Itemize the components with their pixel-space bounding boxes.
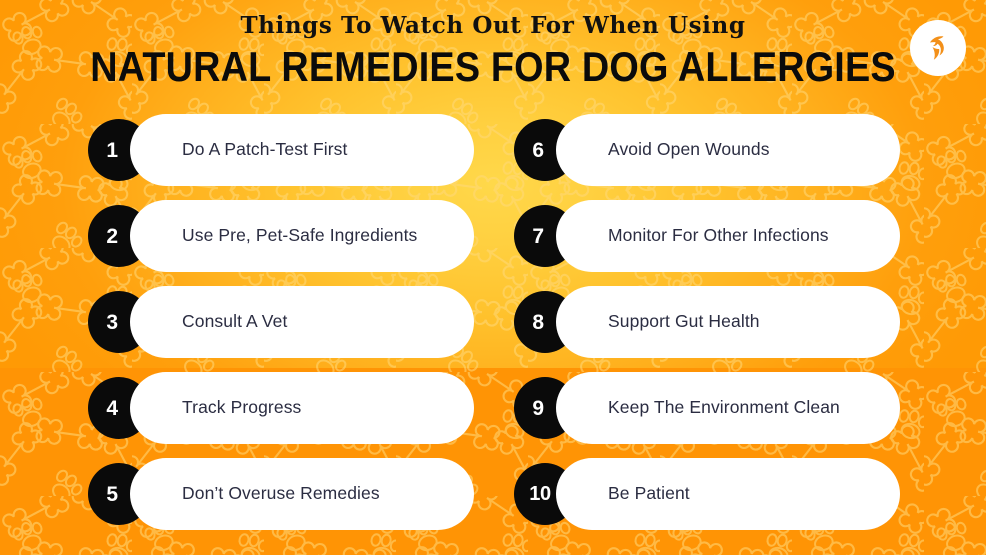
- item-number: 2: [106, 226, 117, 247]
- list-item[interactable]: 4 Track Progress: [88, 372, 474, 444]
- list-item[interactable]: 8 Support Gut Health: [514, 286, 900, 358]
- item-pill[interactable]: Use Pre, Pet-Safe Ingredients: [130, 200, 474, 272]
- item-pill[interactable]: Consult A Vet: [130, 286, 474, 358]
- item-pill[interactable]: Monitor For Other Infections: [556, 200, 900, 272]
- list-item[interactable]: 9 Keep The Environment Clean: [514, 372, 900, 444]
- list-item[interactable]: 6 Avoid Open Wounds: [514, 114, 900, 186]
- item-number: 4: [106, 398, 117, 419]
- list-item[interactable]: 5 Don’t Overuse Remedies: [88, 458, 474, 530]
- item-pill[interactable]: Avoid Open Wounds: [556, 114, 900, 186]
- item-pill[interactable]: Don’t Overuse Remedies: [130, 458, 474, 530]
- brand-logo[interactable]: [910, 20, 966, 76]
- eyebrow-text: Things To Watch Out For When Using: [0, 14, 986, 37]
- item-label: Monitor For Other Infections: [556, 226, 829, 245]
- list-item[interactable]: 7 Monitor For Other Infections: [514, 200, 900, 272]
- item-number: 10: [529, 484, 550, 504]
- item-number: 6: [532, 140, 543, 161]
- item-pill[interactable]: Track Progress: [130, 372, 474, 444]
- item-number: 1: [106, 140, 117, 161]
- list-item[interactable]: 2 Use Pre, Pet-Safe Ingredients: [88, 200, 474, 272]
- item-number: 3: [106, 312, 117, 333]
- item-label: Support Gut Health: [556, 312, 760, 331]
- item-label: Consult A Vet: [130, 312, 287, 331]
- page-title: NATURAL REMEDIES FOR DOG ALLERGIES: [49, 46, 936, 88]
- list-item[interactable]: 1 Do A Patch-Test First: [88, 114, 474, 186]
- list-item[interactable]: 10 Be Patient: [514, 458, 900, 530]
- item-label: Use Pre, Pet-Safe Ingredients: [130, 226, 417, 245]
- item-pill[interactable]: Keep The Environment Clean: [556, 372, 900, 444]
- item-number: 7: [532, 226, 543, 247]
- item-label: Do A Patch-Test First: [130, 140, 348, 159]
- item-number: 9: [532, 398, 543, 419]
- item-label: Be Patient: [556, 484, 690, 503]
- item-pill[interactable]: Do A Patch-Test First: [130, 114, 474, 186]
- list-item[interactable]: 3 Consult A Vet: [88, 286, 474, 358]
- dog-mark-icon: [921, 31, 955, 65]
- item-number: 8: [532, 312, 543, 333]
- item-label: Avoid Open Wounds: [556, 140, 770, 159]
- infographic-canvas: Things To Watch Out For When Using NATUR…: [0, 0, 986, 555]
- item-label: Track Progress: [130, 398, 301, 417]
- item-pill[interactable]: Support Gut Health: [556, 286, 900, 358]
- item-label: Keep The Environment Clean: [556, 398, 840, 417]
- header-block: Things To Watch Out For When Using NATUR…: [0, 14, 986, 88]
- item-pill[interactable]: Be Patient: [556, 458, 900, 530]
- item-label: Don’t Overuse Remedies: [130, 484, 380, 503]
- item-number: 5: [106, 484, 117, 505]
